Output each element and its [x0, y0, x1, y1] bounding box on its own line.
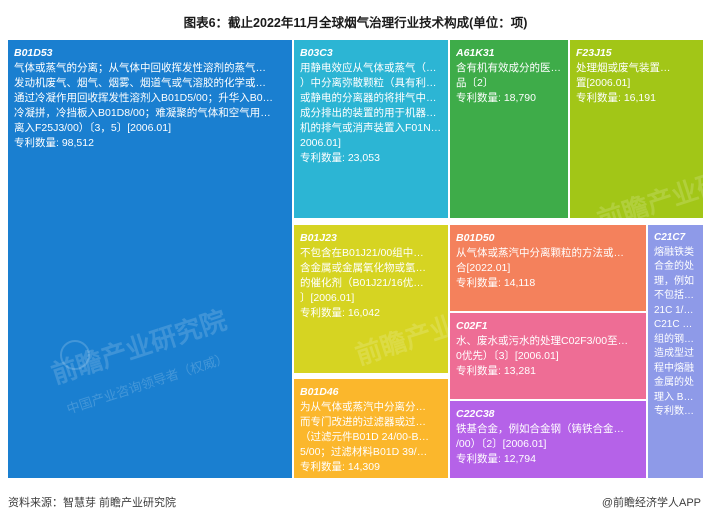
cell-patent-count: 专利数量: 16,042	[300, 306, 443, 321]
cell-description: 不包含在B01J21/00组中… 含金属或金属氧化物或氢… 的催化剂（B01J2…	[300, 246, 443, 306]
treemap-cell-b01d46[interactable]: B01D46 为从气体或蒸汽中分离分… 而专门改进的过滤器或过… （过滤元件B0…	[294, 379, 448, 478]
cell-patent-count: 专利数量: 98,512	[14, 136, 287, 151]
cell-patent-count: 专利数量: 14,309	[300, 460, 443, 475]
cell-code: C21C7	[654, 231, 698, 246]
cell-code: C22C38	[456, 407, 641, 422]
cell-patent-count: 专利数量: 12,794	[456, 452, 641, 467]
watermark-sub: 中国产业咨询领导者（权威）	[65, 350, 230, 416]
treemap-cell-f23j15[interactable]: F23J15 处理烟或废气装置… 置[2006.01] 专利数量: 16,191…	[570, 40, 703, 218]
treemap-cell-b01j23[interactable]: B01J23 不包含在B01J21/00组中… 含金属或金属氧化物或氢… 的催化…	[294, 225, 448, 373]
cell-code: B01D53	[14, 46, 287, 61]
cell-code: F23J15	[576, 46, 698, 61]
treemap-cell-a61k31[interactable]: A61K31 含有机有效成分的医… 品〔2〕 专利数量: 18,790	[450, 40, 568, 218]
watermark-brand: 前瞻产业研究院	[50, 312, 228, 383]
cell-patent-count: 专利数量: 18,790	[456, 91, 563, 106]
cell-description: 熔融铁类 合金的处 理，例如 不包括… 21C 1/… C21C … 组的钢… …	[654, 246, 698, 406]
source-note: 资料来源：智慧芽 前瞻产业研究院	[8, 494, 176, 510]
page-title: 图表6：截止2022年11月全球烟气治理行业技术构成(单位：项)	[0, 12, 711, 31]
brand-note: @前瞻经济学人APP	[602, 494, 701, 510]
cell-description: 为从气体或蒸汽中分离分… 而专门改进的过滤器或过… （过滤元件B01D 24/0…	[300, 400, 443, 460]
cell-code: B01D50	[456, 231, 641, 246]
cell-code: B01D46	[300, 385, 443, 400]
cell-patent-count: 专利数…	[654, 405, 698, 420]
cell-patent-count: 专利数量: 16,191	[576, 91, 698, 106]
treemap-cell-b03c3[interactable]: B03C3 用静电效应从气体或蒸气（… ）中分离弥散颗粒（具有利… 或静电的分离…	[294, 40, 448, 218]
treemap-cell-b01d53[interactable]: B01D53 气体或蒸气的分离；从气体中回收挥发性溶剂的蒸气… 发动机废气、烟气…	[8, 40, 292, 478]
watermark-logo-icon	[60, 340, 90, 370]
cell-code: A61K31	[456, 46, 563, 61]
treemap-cell-b01d50[interactable]: B01D50 从气体或蒸汽中分离颗粒的方法或… 合[2022.01] 专利数量:…	[450, 225, 646, 311]
cell-description: 含有机有效成分的医… 品〔2〕	[456, 61, 563, 91]
treemap-cell-c22c38[interactable]: C22C38 铁基合金，例如合金钢（铸铁合金… /00）〔2〕[2006.01]…	[450, 401, 646, 478]
treemap-cell-c21c7[interactable]: C21C7 熔融铁类 合金的处 理，例如 不包括… 21C 1/… C21C ……	[648, 225, 703, 478]
treemap-chart: B01D53 气体或蒸气的分离；从气体中回收挥发性溶剂的蒸气… 发动机废气、烟气…	[8, 40, 703, 480]
cell-code: B03C3	[300, 46, 443, 61]
cell-patent-count: 专利数量: 23,053	[300, 151, 443, 166]
watermark-brand: 前瞻产业研究院	[596, 158, 703, 218]
cell-description: 处理烟或废气装置… 置[2006.01]	[576, 61, 698, 91]
cell-description: 用静电效应从气体或蒸气（… ）中分离弥散颗粒（具有利… 或静电的分离器的将排气中…	[300, 61, 443, 151]
cell-code: B01J23	[300, 231, 443, 246]
cell-patent-count: 专利数量: 13,281	[456, 364, 641, 379]
cell-patent-count: 专利数量: 14,118	[456, 276, 641, 291]
cell-code: C02F1	[456, 319, 641, 334]
cell-description: 水、废水或污水的处理C02F3/00至… 0优先）〔3〕[2006.01]	[456, 334, 641, 364]
cell-description: 气体或蒸气的分离；从气体中回收挥发性溶剂的蒸气… 发动机废气、烟气、烟雾、烟道气…	[14, 61, 287, 136]
cell-description: 从气体或蒸汽中分离颗粒的方法或… 合[2022.01]	[456, 246, 641, 276]
treemap-cell-c02f1[interactable]: C02F1 水、废水或污水的处理C02F3/00至… 0优先）〔3〕[2006.…	[450, 313, 646, 399]
cell-description: 铁基合金，例如合金钢（铸铁合金… /00）〔2〕[2006.01]	[456, 422, 641, 452]
